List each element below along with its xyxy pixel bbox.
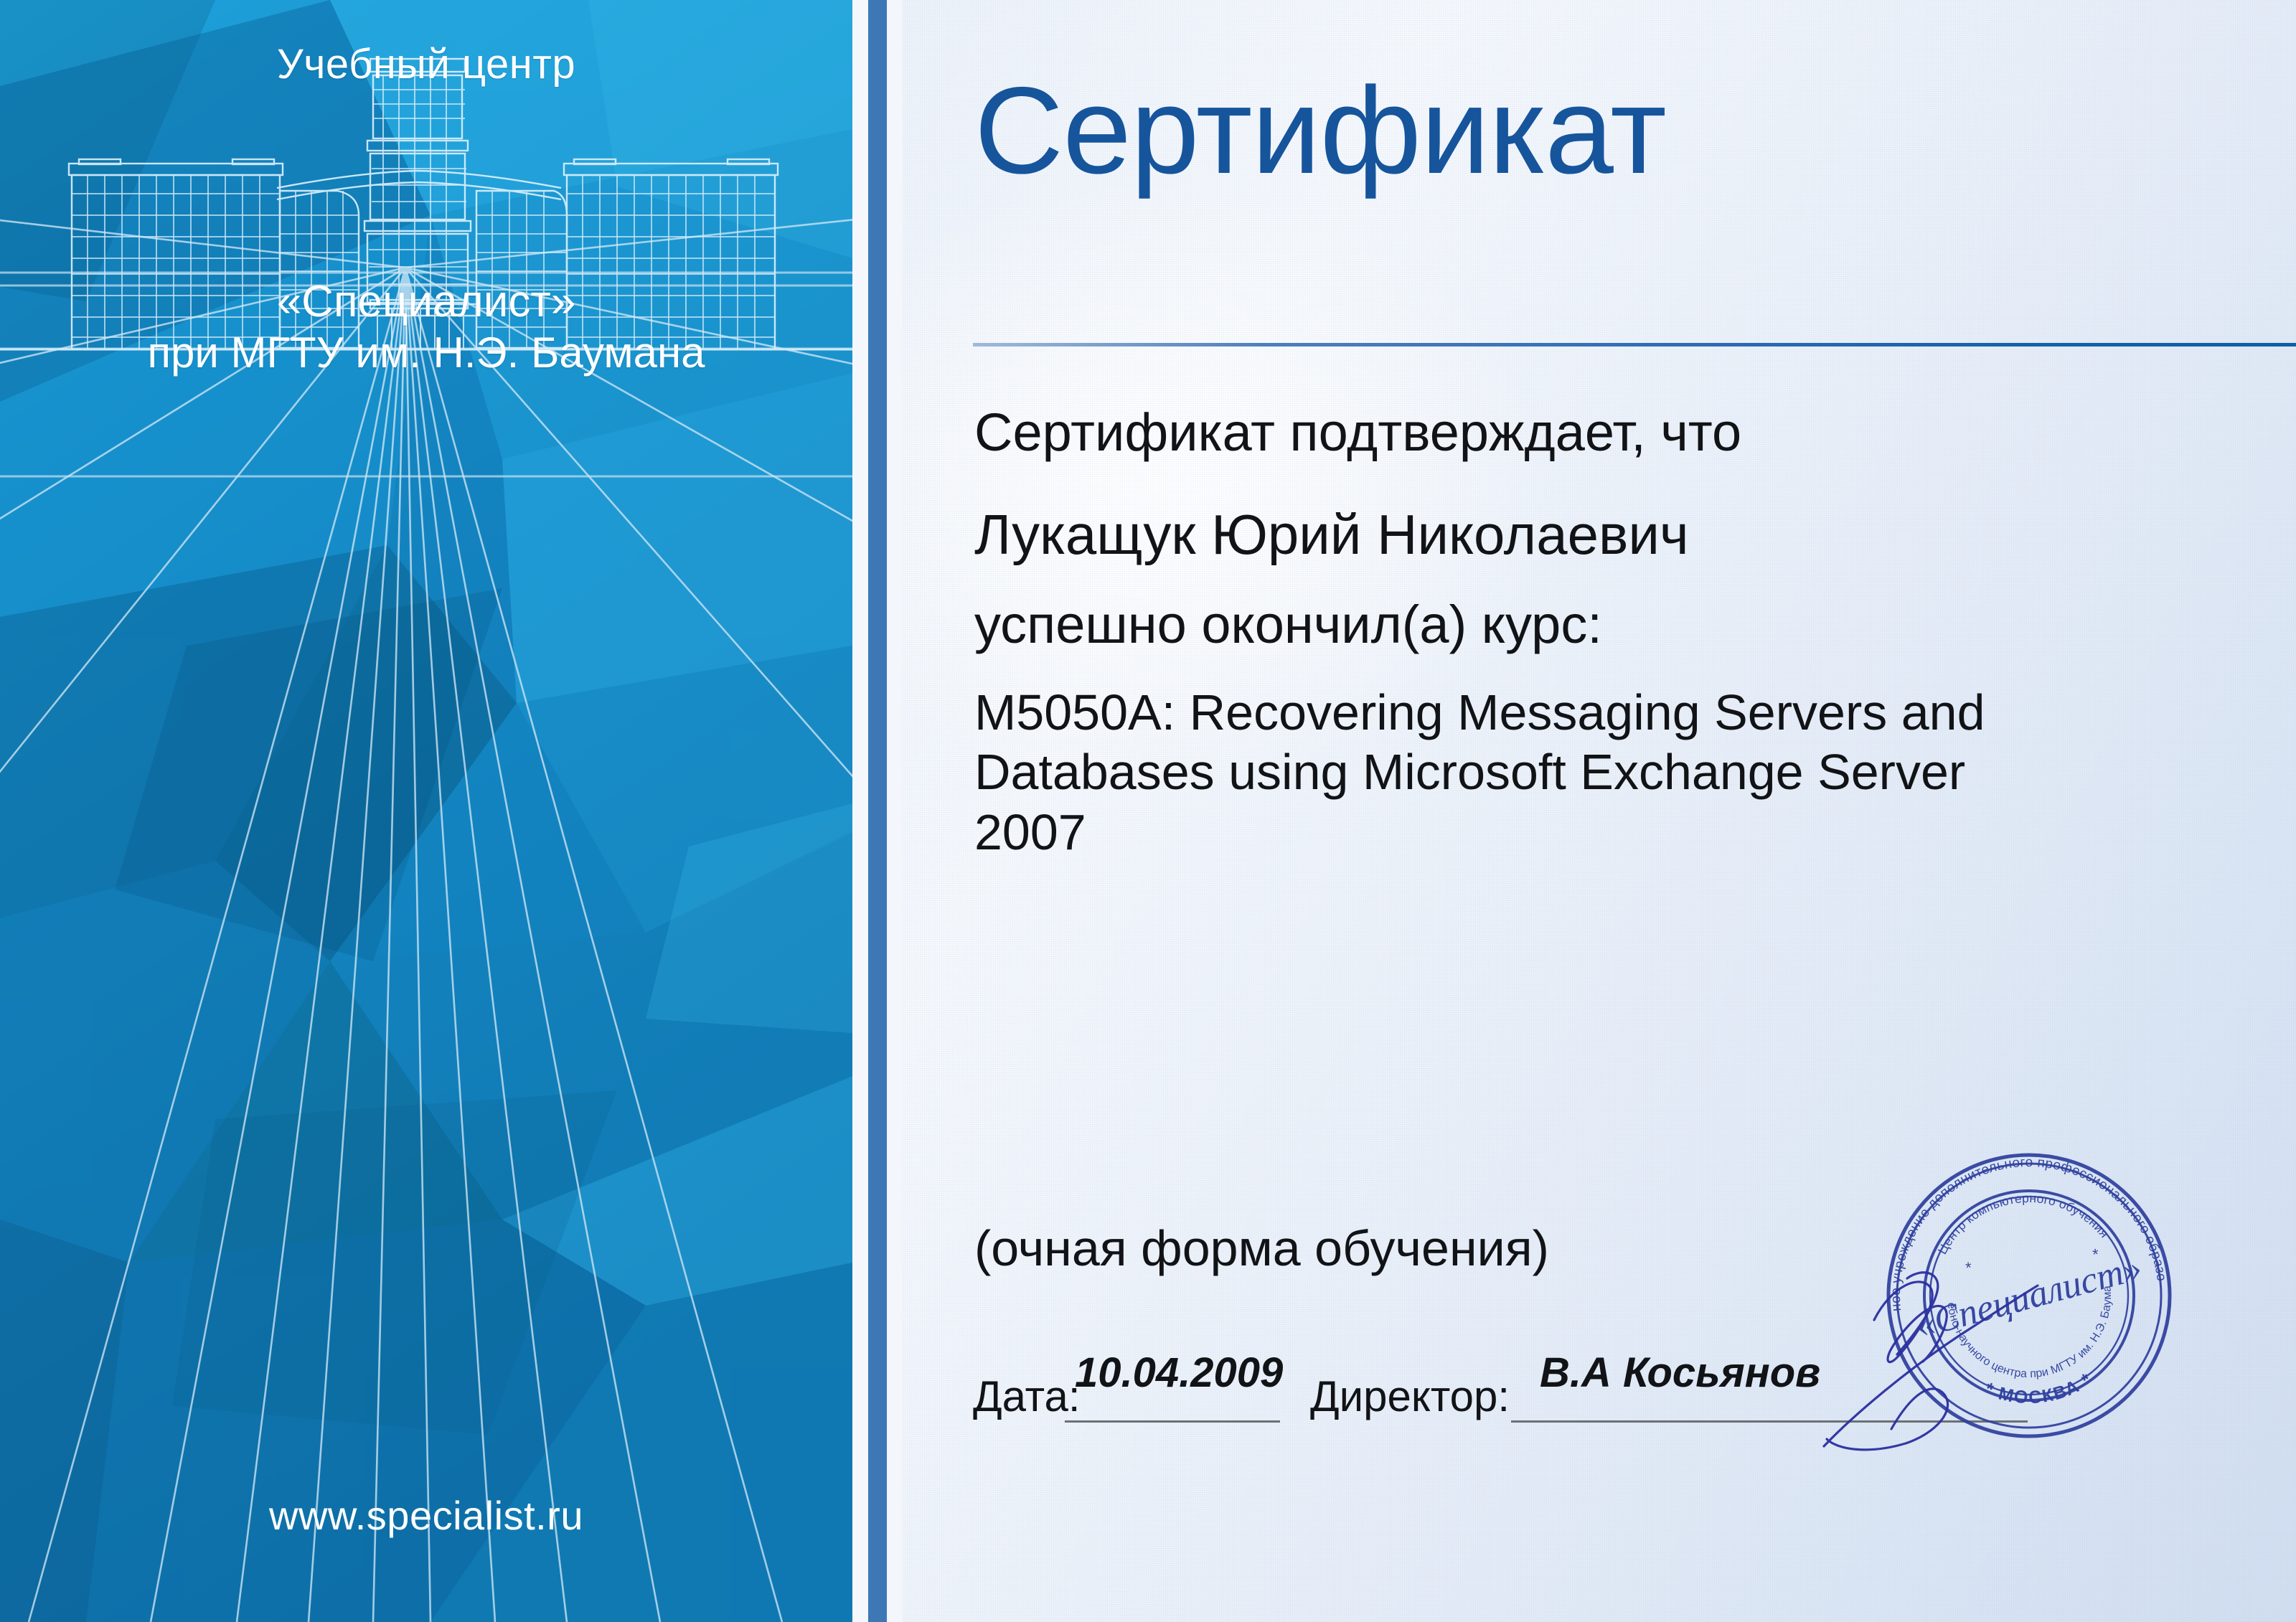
title-divider-rule <box>973 343 2296 346</box>
low-poly-background <box>0 0 852 1622</box>
signature-row: Дата: 10.04.2009 Директор: В.А Косьянов <box>973 1346 2193 1432</box>
left-panel-header: Учебный центр <box>0 40 852 88</box>
brand-line-1: «Специалист» <box>0 276 852 328</box>
completed-text: успешно окончил(а) курс: <box>974 594 1602 655</box>
certificate-page: Учебный центр «Специалист» при МГТУ им. … <box>0 0 2296 1622</box>
confirms-text: Сертификат подтверждает, что <box>974 402 1741 463</box>
page-title: Сертификат <box>974 69 1666 192</box>
date-underline <box>1065 1420 1280 1423</box>
divider-blue-stripe <box>868 0 887 1622</box>
date-label: Дата: <box>973 1372 1081 1421</box>
left-decorative-panel: Учебный центр «Специалист» при МГТУ им. … <box>0 0 852 1622</box>
director-underline <box>1511 1420 2028 1423</box>
divider-gap-left <box>852 0 868 1622</box>
date-value: 10.04.2009 <box>1075 1349 1283 1397</box>
divider-gap-right <box>887 0 903 1622</box>
study-form: (очная форма обучения) <box>974 1220 1549 1277</box>
certificate-content-panel: Сертификат Сертификат подтверждает, что … <box>903 0 2296 1622</box>
director-label: Директор: <box>1310 1372 1510 1421</box>
brand-line-2: при МГТУ им. Н.Э. Баумана <box>0 328 852 378</box>
director-value: В.А Косьянов <box>1540 1349 1820 1397</box>
course-title: M5050A: Recovering Messaging Servers and… <box>974 683 1993 862</box>
website-url[interactable]: www.specialist.ru <box>0 1492 852 1539</box>
left-panel-brand: «Специалист» при МГТУ им. Н.Э. Баумана <box>0 276 852 378</box>
recipient-name: Лукащук Юрий Николаевич <box>974 502 1689 567</box>
